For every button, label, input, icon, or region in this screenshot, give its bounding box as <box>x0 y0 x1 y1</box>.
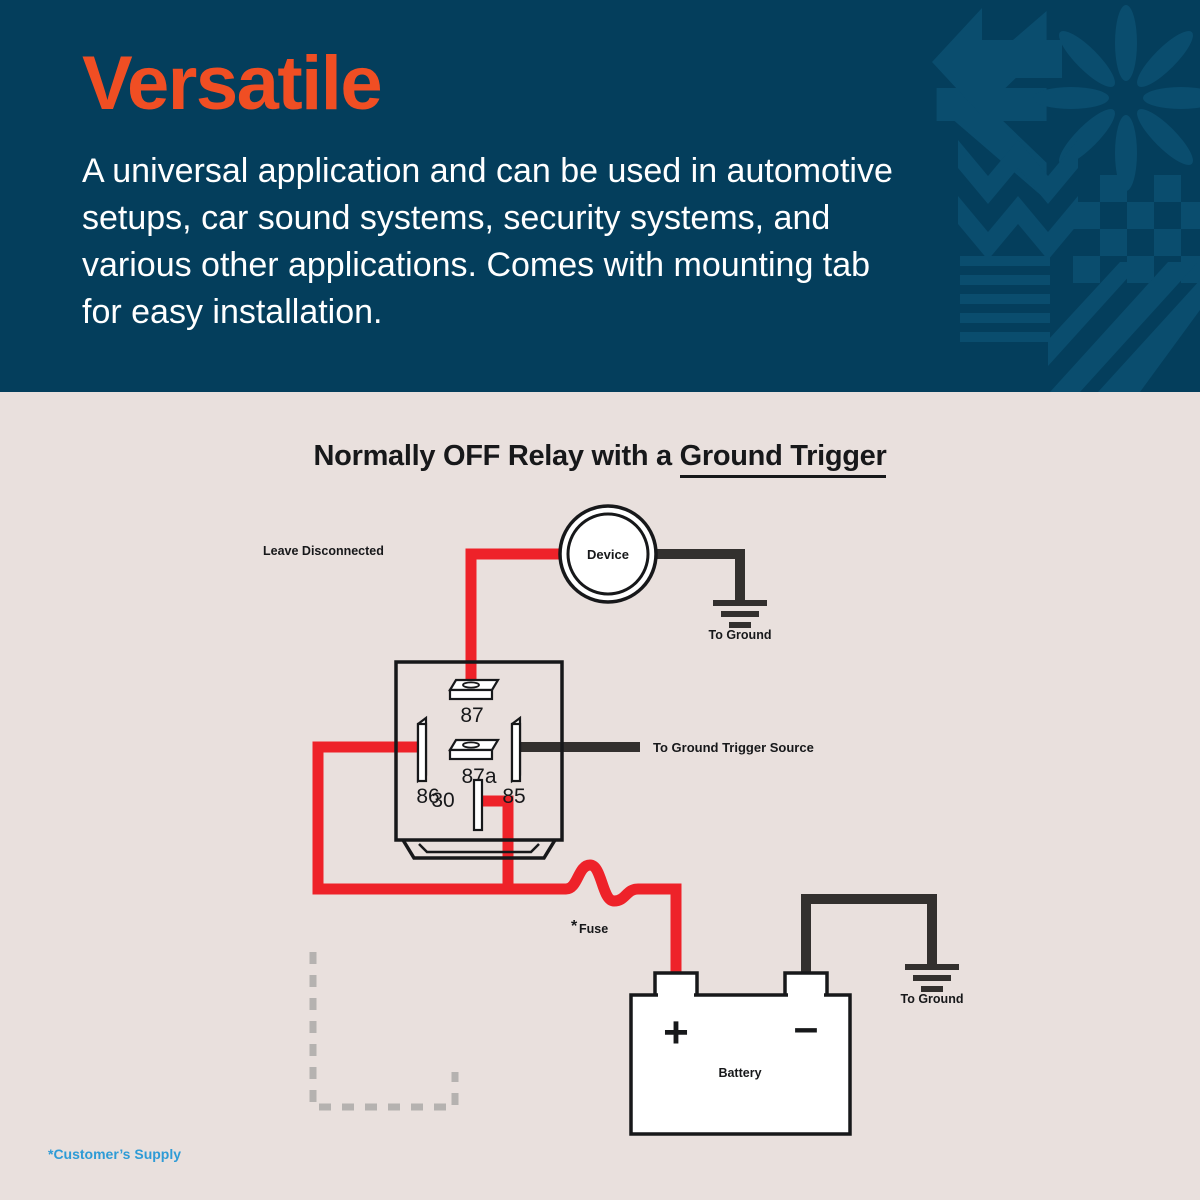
wire-battery-neg-to-ground <box>806 899 932 973</box>
terminal-label-30: 30 <box>431 789 454 812</box>
ground-symbol-battery <box>905 967 959 989</box>
leave-disconnected-dashed-line <box>313 952 455 1107</box>
label-to-ground-device: To Ground <box>709 628 772 642</box>
label-device: Device <box>587 547 629 562</box>
label-to-ground-trigger-source: To Ground Trigger Source <box>653 740 814 755</box>
relay-terminal-87 <box>450 680 498 699</box>
infographic-page: Versatile A universal application and ca… <box>0 0 1200 1200</box>
wire-device-to-ground <box>651 554 740 603</box>
relay-terminal-87a <box>450 740 498 759</box>
wire-30-to-rail <box>481 801 508 889</box>
wire-86-to-fuse <box>318 747 566 889</box>
hero-body-text: A universal application and can be used … <box>82 148 902 336</box>
relay-terminal-85 <box>512 718 520 781</box>
battery-minus-icon: – <box>794 1003 818 1052</box>
terminal-label-87: 87 <box>460 704 483 727</box>
diagram-panel: Normally OFF Relay with a Ground Trigger <box>0 392 1200 1200</box>
label-leave-disconnected: Leave Disconnected <box>263 544 384 558</box>
ground-symbol-device <box>713 603 767 625</box>
label-fuse: Fuse <box>579 922 608 936</box>
hero-title: Versatile <box>82 46 912 122</box>
relay-mounting-tab-inner <box>419 844 539 852</box>
battery-plus-icon: + <box>663 1008 689 1057</box>
wiring-diagram: To Ground To Ground Leave Disconnected D… <box>0 392 1200 1200</box>
hero-copy: Versatile A universal application and ca… <box>82 46 912 336</box>
wire-fuse-to-battery <box>566 865 676 973</box>
label-battery: Battery <box>718 1066 761 1080</box>
relay-mounting-tab-outer <box>403 840 555 858</box>
terminal-label-85: 85 <box>502 785 525 808</box>
decorative-pattern <box>930 0 1200 392</box>
relay-terminal-30 <box>474 780 482 830</box>
hero-panel: Versatile A universal application and ca… <box>0 0 1200 392</box>
relay-terminal-86 <box>418 718 426 781</box>
fuse-asterisk: * <box>571 918 578 935</box>
label-to-ground-battery: To Ground <box>901 992 964 1006</box>
footnote-customers-supply: *Customer’s Supply <box>48 1146 181 1162</box>
wire-87-to-device <box>471 554 566 686</box>
